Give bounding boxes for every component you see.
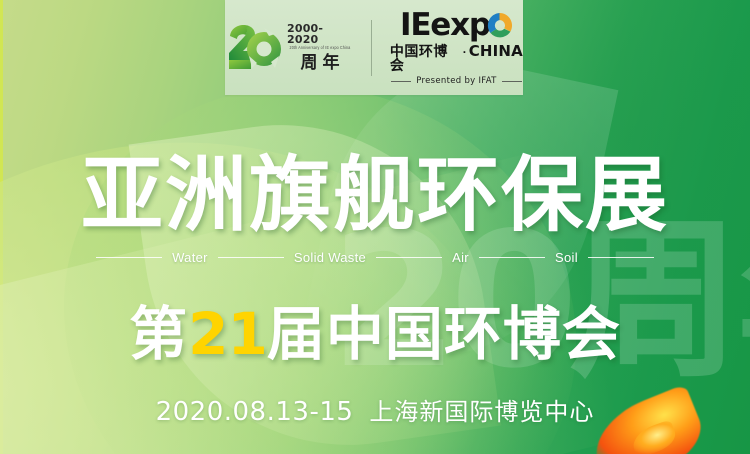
ieexpo-cn-row: 中国环博会 · CHINA [390,44,523,73]
anniversary-years: 2000-2020 [287,23,353,45]
logo-inner: 2000-2020 20th Anniversary of IE expo Ch… [225,10,523,86]
eco-label-soil: Soil [545,250,588,265]
ieexpo-logo: IEexp 中国环博会 · CHINA Presented by IFAT [390,10,523,86]
eco-ring-icon [486,12,513,39]
eco-label-air: Air [442,250,479,265]
anniversary-text: 2000-2020 20th Anniversary of IE expo Ch… [287,23,353,72]
anniversary-20-recycle-mark [225,22,281,74]
ieexpo-cn-name: 中国环博会 [390,45,461,73]
headline-secondary-prefix: 第 [129,300,188,368]
anniversary-subtitle-en: 20th Anniversary of IE expo China [290,47,351,51]
ieexpo-country: CHINA [469,44,523,59]
presented-rule-left [391,81,411,82]
event-date: 2020.08.13-15 [156,397,354,427]
eco-category-row: Water Solid Waste Air Soil [0,250,750,265]
anniversary-logo: 2000-2020 20th Anniversary of IE expo Ch… [225,22,353,74]
eco-rule [218,257,284,258]
presented-rule-right [502,81,522,82]
expo-poster: 20 周年 [0,0,750,454]
headline-secondary: 第21届中国环博会 [0,305,750,363]
eco-label-solid-waste: Solid Waste [284,250,376,265]
eco-label-water: Water [162,250,218,265]
eco-rule [376,257,442,258]
event-venue: 上海新国际博览中心 [369,392,594,427]
headline-primary: 亚洲旗舰环保展 [0,155,750,237]
logo-divider [371,20,372,76]
logo-panel: 2000-2020 20th Anniversary of IE expo Ch… [225,0,523,95]
eco-rule [96,257,162,258]
anniversary-label-cn: 周年 [295,55,344,72]
eco-rule [588,257,654,258]
presented-by-text: Presented by IFAT [416,77,496,86]
ieexpo-wordmark: IEexp [400,10,490,41]
ieexpo-separator: · [463,46,467,58]
presented-by-row: Presented by IFAT [390,77,523,86]
edition-number: 21 [188,300,267,368]
eco-rule [479,257,545,258]
ieexpo-wordmark-row: IEexp [400,10,513,41]
headline-secondary-suffix: 届中国环博会 [267,300,621,368]
